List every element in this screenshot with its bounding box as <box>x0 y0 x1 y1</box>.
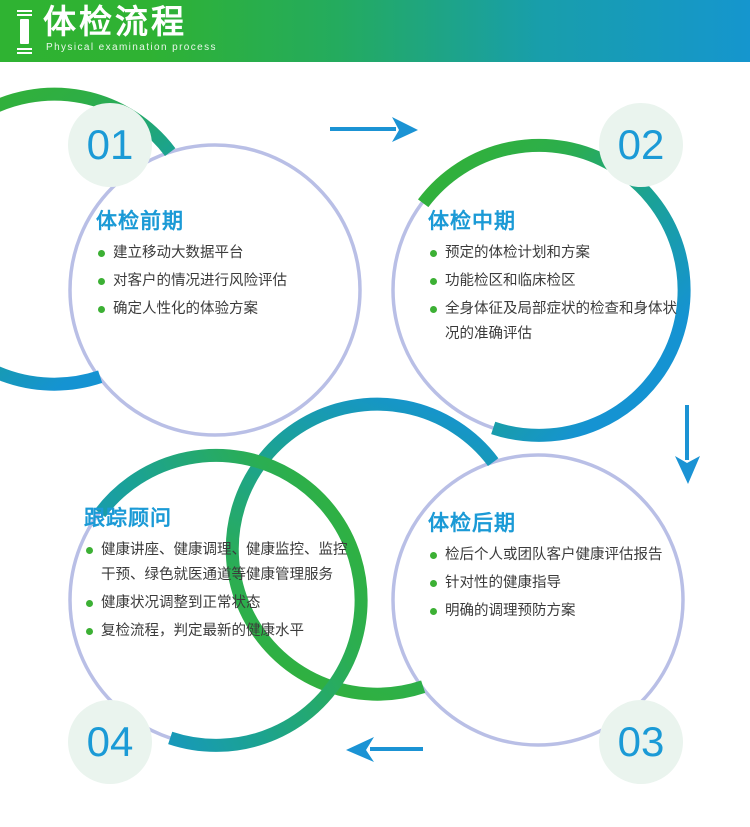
step-block-02: 体检中期 预定的体检计划和方案 功能检区和临床检区 全身体征及局部症状的检查和身… <box>428 208 690 350</box>
list-item: 复检流程，判定最新的健康水平 <box>84 619 352 644</box>
step-badge-02-label: 02 <box>618 124 665 166</box>
list-item: 健康讲座、健康调理、健康监控、监控干预、绿色就医通道等健康管理服务 <box>84 538 352 588</box>
step-badge-03-label: 03 <box>618 721 665 763</box>
step-badge-04[interactable]: 04 <box>68 700 152 784</box>
bullet-text: 确定人性化的体验方案 <box>113 301 258 317</box>
list-item: 针对性的健康指导 <box>428 571 690 596</box>
step-bullets-04: 健康讲座、健康调理、健康监控、监控干预、绿色就医通道等健康管理服务 健康状况调整… <box>84 538 352 644</box>
bullet-text: 复检流程，判定最新的健康水平 <box>101 623 304 639</box>
list-item: 全身体征及局部症状的检查和身体状况的准确评估 <box>428 297 690 347</box>
bullet-dot-icon <box>430 278 437 285</box>
bullet-dot-icon <box>98 306 105 313</box>
step-bullets-01: 建立移动大数据平台 对客户的情况进行风险评估 确定人性化的体验方案 <box>96 241 346 322</box>
bullet-dot-icon <box>430 306 437 313</box>
bullet-dot-icon <box>86 547 93 554</box>
bullet-text: 建立移动大数据平台 <box>113 245 244 261</box>
bullet-text: 功能检区和临床检区 <box>445 273 576 289</box>
arrow-step1-to-step2 <box>330 117 418 142</box>
bullet-text: 检后个人或团队客户健康评估报告 <box>445 547 663 563</box>
step-title-01: 体检前期 <box>96 208 346 234</box>
document-list-icon <box>14 9 36 54</box>
arrow-step3-to-step4 <box>346 737 423 762</box>
step-title-04: 跟踪顾问 <box>84 505 352 531</box>
step-badge-02[interactable]: 02 <box>599 103 683 187</box>
list-item: 明确的调理预防方案 <box>428 599 690 624</box>
list-item: 确定人性化的体验方案 <box>96 297 346 322</box>
step-title-03: 体检后期 <box>428 510 690 536</box>
bullet-text: 健康讲座、健康调理、健康监控、监控干预、绿色就医通道等健康管理服务 <box>101 542 348 583</box>
bullet-text: 明确的调理预防方案 <box>445 603 576 619</box>
list-item: 建立移动大数据平台 <box>96 241 346 266</box>
step-bullets-02: 预定的体检计划和方案 功能检区和临床检区 全身体征及局部症状的检查和身体状况的准… <box>428 241 690 347</box>
bullet-text: 针对性的健康指导 <box>445 575 561 591</box>
arrow-step2-to-step3 <box>675 405 700 484</box>
list-item: 对客户的情况进行风险评估 <box>96 269 346 294</box>
list-item: 预定的体检计划和方案 <box>428 241 690 266</box>
step-badge-01-label: 01 <box>87 124 134 166</box>
step-badge-04-label: 04 <box>87 721 134 763</box>
bullet-dot-icon <box>430 580 437 587</box>
step-block-01: 体检前期 建立移动大数据平台 对客户的情况进行风险评估 确定人性化的体验方案 <box>96 208 346 325</box>
step-badge-03[interactable]: 03 <box>599 700 683 784</box>
bullet-dot-icon <box>98 250 105 257</box>
bullet-text: 健康状况调整到正常状态 <box>101 595 261 611</box>
bullet-dot-icon <box>86 628 93 635</box>
page-subtitle: Physical examination process <box>46 42 217 53</box>
step-block-04: 跟踪顾问 健康讲座、健康调理、健康监控、监控干预、绿色就医通道等健康管理服务 健… <box>84 505 352 647</box>
bullet-text: 全身体征及局部症状的检查和身体状况的准确评估 <box>445 301 677 342</box>
list-item: 检后个人或团队客户健康评估报告 <box>428 543 690 568</box>
bullet-text: 对客户的情况进行风险评估 <box>113 273 287 289</box>
step-title-02: 体检中期 <box>428 208 690 234</box>
bullet-dot-icon <box>98 278 105 285</box>
list-item: 功能检区和临床检区 <box>428 269 690 294</box>
bullet-dot-icon <box>430 608 437 615</box>
bullet-text: 预定的体检计划和方案 <box>445 245 590 261</box>
bullet-dot-icon <box>430 552 437 559</box>
step-badge-01[interactable]: 01 <box>68 103 152 187</box>
page-title: 体检流程 <box>43 2 187 42</box>
step-bullets-03: 检后个人或团队客户健康评估报告 针对性的健康指导 明确的调理预防方案 <box>428 543 690 624</box>
bullet-dot-icon <box>86 600 93 607</box>
list-item: 健康状况调整到正常状态 <box>84 591 352 616</box>
page-header: 体检流程 Physical examination process <box>0 0 750 62</box>
bullet-dot-icon <box>430 250 437 257</box>
infographic-page: 体检流程 Physical examination process <box>0 0 750 827</box>
step-block-03: 体检后期 检后个人或团队客户健康评估报告 针对性的健康指导 明确的调理预防方案 <box>428 510 690 627</box>
